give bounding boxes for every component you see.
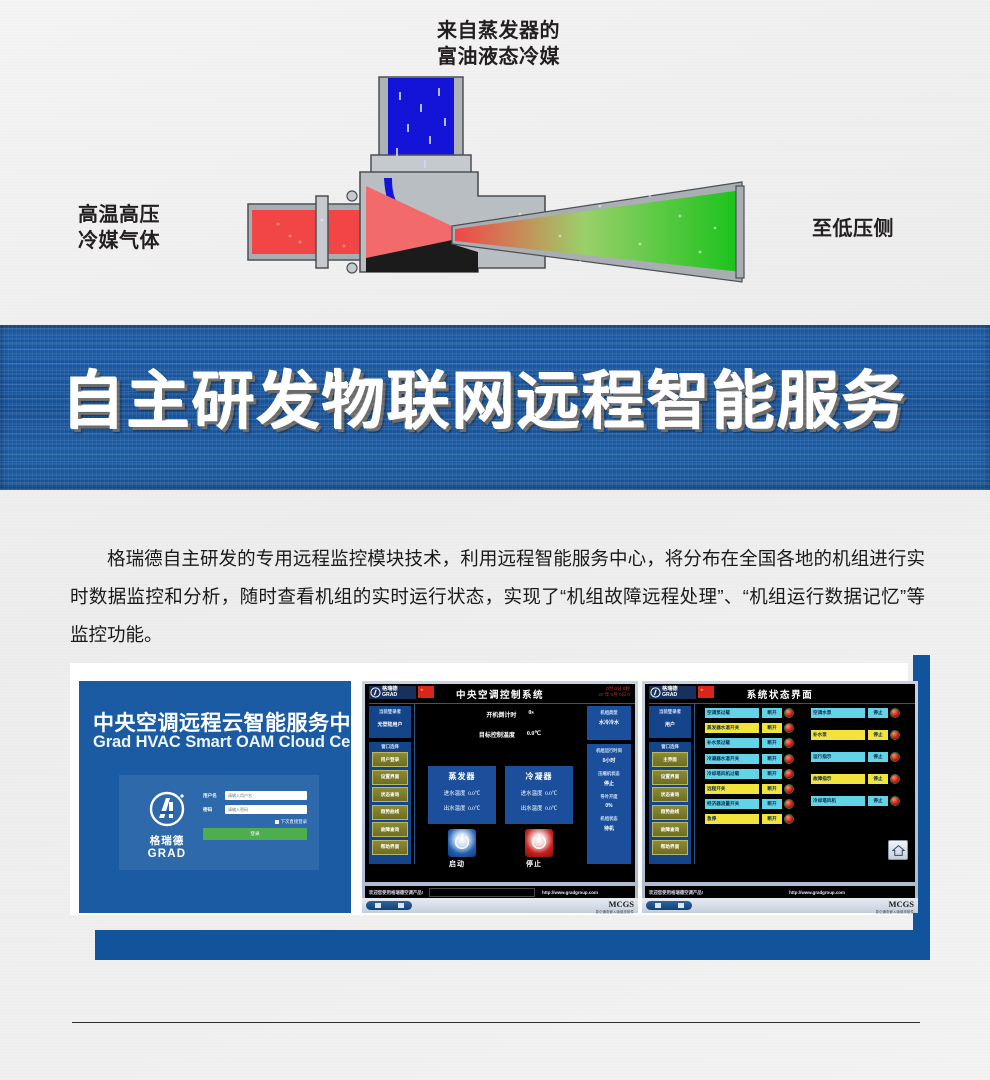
status-led-icon — [891, 775, 899, 783]
target-temp-row: 目标控制温度 0.0℃ — [437, 730, 583, 739]
bottom-divider — [72, 1022, 920, 1023]
sidebar-divider — [414, 704, 415, 864]
screenshot-card: 中央空调远程云智能服务中心 Grad HVAC Smart OAM Cloud … — [70, 663, 908, 915]
window-select-header: 窗口选择 — [371, 744, 409, 750]
mcgs-logo-text-status: MCGS — [876, 899, 914, 909]
username-row: 用户名 — [203, 791, 307, 800]
status-row: 冷却塔风机过载断开 — [705, 769, 793, 779]
window-select-menu: 窗口选择 用户登录 设置界面 状态查询 趋势曲线 故障查询 帮助界面 — [369, 742, 411, 864]
status-screen: 格瑞德 GRAD ★ 系统状态界面 当前登录者 用户 窗口 — [645, 684, 915, 882]
status-row: 蒸发器水温开关断开 — [705, 723, 793, 733]
status-led-icon — [785, 724, 793, 732]
footer-welcome-status: 欢迎您使用格瑞德空调产品! — [649, 890, 703, 896]
power-off-icon: ⏻ — [531, 834, 546, 853]
status-value: 断开 — [762, 723, 782, 733]
diagram-label-left: 高温高压 冷媒气体 — [78, 202, 160, 255]
status-name: 补水泵 — [811, 730, 865, 740]
menu-item-3[interactable]: 趋势曲线 — [372, 805, 408, 820]
evaporator-inlet-value: 0.0℃ — [468, 791, 480, 797]
target-temp-label: 目标控制温度 — [479, 730, 515, 739]
brand-name-en: GRAD — [135, 848, 199, 860]
top-readouts: 开机倒计时 0s 目标控制温度 0.0℃ — [437, 710, 583, 750]
condenser-inlet-label: 进水温度 — [521, 791, 543, 797]
brand-name-cn: 格瑞德 — [135, 833, 199, 848]
info-value-2: 0% — [587, 803, 631, 809]
status-led-icon — [785, 739, 793, 747]
menu-item-5[interactable]: 帮助界面 — [372, 840, 408, 855]
status-row: 补水泵过载断开 — [705, 738, 793, 748]
condenser-outlet-value: 0.0℃ — [545, 806, 557, 812]
start-label: 启动 — [449, 859, 465, 869]
countdown-label: 开机倒计时 — [486, 710, 516, 719]
login-form-box: 格瑞德 GRAD 用户名 密码 — [119, 775, 319, 870]
status-name: 蒸发器水温开关 — [705, 723, 759, 733]
status-row: 远程开关断开 — [705, 784, 793, 794]
header-divider-status — [649, 703, 915, 704]
status-value: 断开 — [762, 738, 782, 748]
control-taskbar: MCGS 昆仑通态嵌入版组态软件 — [362, 898, 638, 913]
status-value: 断开 — [762, 769, 782, 779]
status-menu-item-2[interactable]: 状态查询 — [652, 787, 688, 802]
status-row: 冷凝器水温开关断开 — [705, 754, 793, 764]
condenser-card: 冷凝器 进水温度 0.0℃ 出水温度 0.0℃ — [505, 766, 573, 824]
countdown-value: 0s — [528, 710, 533, 719]
grad-logo-icon — [146, 789, 188, 831]
status-value: 断开 — [762, 799, 782, 809]
current-user-label: 当前登录者 — [369, 709, 411, 715]
condenser-title: 冷凝器 — [505, 771, 573, 782]
screenshot-showcase: 中央空调远程云智能服务中心 Grad HVAC Smart OAM Cloud … — [70, 655, 930, 960]
stop-label: 停止 — [526, 859, 542, 869]
status-value: 停止 — [868, 730, 888, 740]
status-name: 运行指示 — [811, 752, 865, 762]
status-row: 经济器流量开关断开 — [705, 799, 793, 809]
current-user-label-status: 当前登录者 — [649, 709, 691, 715]
body-paragraph: 格瑞德自主研发的专用远程监控模块技术，利用远程智能服务中心，将分布在全国各地的机… — [70, 540, 925, 654]
menu-item-1[interactable]: 设置界面 — [372, 770, 408, 785]
brand-block: 格瑞德 GRAD — [135, 789, 199, 860]
condenser-outlet: 出水温度 0.0℃ — [505, 804, 573, 812]
status-led-icon — [785, 770, 793, 778]
menu-item-0[interactable]: 用户登录 — [372, 752, 408, 767]
status-screen-screenshot: 格瑞德 GRAD ★ 系统状态界面 当前登录者 用户 窗口 — [642, 681, 918, 913]
status-value: 断开 — [762, 814, 782, 824]
checkbox-icon[interactable] — [275, 820, 279, 824]
status-titlebar: 格瑞德 GRAD ★ 系统状态界面 — [645, 684, 915, 702]
status-row: 冷却塔风机停止 — [811, 796, 899, 806]
remember-label: 下次直接登录 — [281, 819, 307, 825]
status-name: 远程开关 — [705, 784, 759, 794]
info-label-0: 机组运行时间 — [587, 748, 631, 754]
status-led-icon — [891, 797, 899, 805]
status-row: 空调泵过载断开 — [705, 708, 793, 718]
current-user-value-status: 用户 — [649, 721, 691, 728]
window-select-menu-status: 窗口选择 主界面 设置界面 状态查询 趋势曲线 故障查询 帮助界面 — [649, 742, 691, 864]
status-value: 断开 — [762, 708, 782, 718]
status-name: 故障指示 — [811, 774, 865, 784]
home-icon — [892, 844, 905, 857]
status-name: 冷却塔风机过载 — [705, 769, 759, 779]
condenser-inlet-value: 0.0℃ — [545, 791, 557, 797]
control-titlebar: 格瑞德 GRAD ★ 中央空调控制系统 0时 0分 0秒 20 年 0月 0日 … — [365, 684, 635, 702]
status-menu-item-5[interactable]: 帮助界面 — [652, 840, 688, 855]
unit-status-box: 机组运行时间 0小时 压缩机状态 停止 导叶开度 0% 机组状态 待机 — [587, 744, 631, 864]
mcgs-logo-text: MCGS — [596, 899, 634, 909]
evaporator-inlet: 进水温度 0.0℃ — [428, 789, 496, 797]
evaporator-card: 蒸发器 进水温度 0.0℃ 出水温度 0.0℃ — [428, 766, 496, 824]
target-temp-value: 0.0℃ — [527, 730, 541, 739]
status-value: 停止 — [868, 796, 888, 806]
status-led-icon — [785, 755, 793, 763]
header-divider — [369, 703, 635, 704]
info-value-0: 0小时 — [587, 757, 631, 764]
status-value: 断开 — [762, 784, 782, 794]
info-label-1: 压缩机状态 — [587, 771, 631, 777]
status-name: 经济器流量开关 — [705, 799, 759, 809]
clock-display: 0时 0分 0秒 20 年 0月 0日 0 — [598, 686, 630, 698]
stop-button[interactable]: ⏻ — [525, 829, 553, 857]
control-panel-title: 中央空调控制系统 — [365, 687, 635, 701]
control-system-screenshot: 格瑞德 GRAD ★ 中央空调控制系统 0时 0分 0秒 20 年 0月 0日 … — [362, 681, 638, 913]
unit-type-box: 机组类型 水冷冷水 — [587, 706, 631, 740]
info-label-3: 机组状态 — [587, 816, 631, 822]
password-input[interactable] — [225, 805, 307, 814]
footer-url[interactable]: http://www.gradgroup.com — [542, 890, 598, 895]
footer-url-status[interactable]: http://www.gradgroup.com — [789, 890, 845, 895]
info-value-1: 停止 — [587, 780, 631, 787]
menu-item-2[interactable]: 状态查询 — [372, 787, 408, 802]
status-row: 故障指示停止 — [811, 774, 899, 784]
status-led-icon — [891, 731, 899, 739]
status-led-icon — [785, 815, 793, 823]
status-panel-title: 系统状态界面 — [645, 687, 915, 701]
status-column-left: 空调泵过载断开 蒸发器水温开关断开 补水泵过载断开 冷凝器水温开关断开 冷却塔风… — [705, 708, 793, 830]
banner-title: 自主研发物联网远程智能服务 — [62, 368, 942, 437]
diagram-label-right: 至低压侧 — [812, 216, 894, 242]
accent-bar-bottom — [95, 930, 930, 960]
window-select-header-status: 窗口选择 — [651, 744, 689, 750]
status-column-right: 空调水泵停止 补水泵停止 运行指示停止 故障指示停止 冷却塔风机停止 — [811, 708, 899, 818]
username-input[interactable] — [225, 791, 307, 800]
status-value: 停止 — [868, 774, 888, 784]
status-name: 补水泵过载 — [705, 738, 759, 748]
power-icon: ⏻ — [454, 834, 469, 853]
status-row: 补水泵停止 — [811, 730, 899, 740]
remember-row[interactable]: 下次直接登录 — [203, 819, 307, 825]
evaporator-outlet-label: 出水温度 — [444, 806, 466, 812]
condenser-inlet: 进水温度 0.0℃ — [505, 789, 573, 797]
status-led-icon — [785, 709, 793, 717]
login-form: 用户名 密码 下次直接登录 登录 — [203, 791, 307, 840]
status-value: 停止 — [868, 708, 888, 718]
status-led-icon — [785, 785, 793, 793]
evaporator-title: 蒸发器 — [428, 771, 496, 782]
diagram-label-top: 来自蒸发器的 富油液态冷媒 — [437, 18, 560, 71]
mcgs-watermark-status: MCGS 昆仑通态嵌入版组态软件 — [876, 899, 914, 914]
status-taskbar: MCGS 昆仑通态嵌入版组态软件 — [642, 898, 918, 913]
product-feature-page: 来自蒸发器的 富油液态冷媒 高温高压 冷媒气体 至低压侧 自主研发物联网远程智能… — [0, 0, 990, 1080]
sidebar-divider-status — [694, 704, 695, 864]
footer-message-field[interactable] — [429, 888, 535, 897]
clock-date: 20 年 0月 0日 0 — [598, 692, 630, 698]
start-button[interactable]: ⏻ — [448, 829, 476, 857]
countdown-row: 开机倒计时 0s — [437, 710, 583, 719]
evaporator-outlet: 出水温度 0.0℃ — [428, 804, 496, 812]
status-menu-item-1[interactable]: 设置界面 — [652, 770, 688, 785]
info-label-2: 导叶开度 — [587, 794, 631, 800]
footer-welcome: 欢迎您使用格瑞德空调产品! — [369, 890, 423, 896]
status-menu-item-0[interactable]: 主界面 — [652, 752, 688, 767]
status-row: 空调水泵停止 — [811, 708, 899, 718]
unit-type-label: 机组类型 — [587, 710, 631, 716]
section-banner: 自主研发物联网远程智能服务 — [0, 325, 990, 490]
login-title-en: Grad HVAC Smart OAM Cloud Center — [93, 733, 351, 752]
status-led-icon — [891, 709, 899, 717]
home-button[interactable] — [888, 840, 908, 860]
status-value: 停止 — [868, 752, 888, 762]
taskbar-buttons-status[interactable] — [646, 901, 692, 910]
ejector-diagram: 来自蒸发器的 富油液态冷媒 高温高压 冷媒气体 至低压侧 — [0, 0, 990, 320]
status-name: 冷却塔风机 — [811, 796, 865, 806]
status-led-icon — [785, 800, 793, 808]
mcgs-logo-sub-status: 昆仑通态嵌入版组态软件 — [876, 909, 914, 914]
status-row: 运行指示停止 — [811, 752, 899, 762]
current-user-box-status: 当前登录者 用户 — [649, 706, 691, 738]
status-menu-item-4[interactable]: 故障查询 — [652, 822, 688, 837]
status-name: 急停 — [705, 814, 759, 824]
password-label: 密码 — [203, 807, 225, 813]
current-user-value: 无登陆用户 — [369, 721, 411, 728]
menu-item-4[interactable]: 故障查询 — [372, 822, 408, 837]
unit-type-value: 水冷冷水 — [587, 719, 631, 726]
mcgs-watermark: MCGS 昆仑通态嵌入版组态软件 — [596, 899, 634, 914]
current-user-box: 当前登录者 无登陆用户 — [369, 706, 411, 738]
login-screenshot: 中央空调远程云智能服务中心 Grad HVAC Smart OAM Cloud … — [79, 681, 351, 913]
status-value: 断开 — [762, 754, 782, 764]
mcgs-logo-sub: 昆仑通态嵌入版组态软件 — [596, 909, 634, 914]
status-name: 冷凝器水温开关 — [705, 754, 759, 764]
taskbar-buttons[interactable] — [366, 901, 412, 910]
condenser-outlet-label: 出水温度 — [521, 806, 543, 812]
control-screen: 格瑞德 GRAD ★ 中央空调控制系统 0时 0分 0秒 20 年 0月 0日 … — [365, 684, 635, 882]
status-led-icon — [891, 753, 899, 761]
evaporator-inlet-label: 进水温度 — [444, 791, 466, 797]
status-name: 空调泵过载 — [705, 708, 759, 718]
status-menu-item-3[interactable]: 趋势曲线 — [652, 805, 688, 820]
password-row: 密码 — [203, 805, 307, 814]
username-label: 用户名 — [203, 793, 225, 799]
status-row: 急停断开 — [705, 814, 793, 824]
evaporator-outlet-value: 0.0℃ — [468, 806, 480, 812]
login-submit-button[interactable]: 登录 — [203, 828, 307, 840]
status-name: 空调水泵 — [811, 708, 865, 718]
info-value-3: 待机 — [587, 825, 631, 832]
